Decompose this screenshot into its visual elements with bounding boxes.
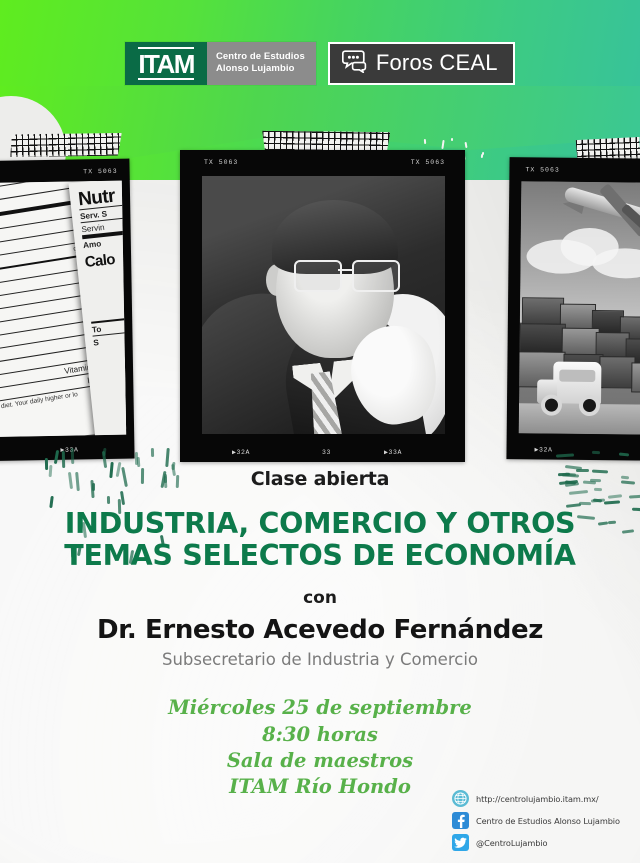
globe-icon: [452, 790, 469, 807]
portrait-artwork: [202, 176, 445, 434]
dash-mark: [61, 451, 64, 469]
kicker-text: Clase abierta: [0, 468, 640, 490]
social-row-website[interactable]: http://centrolujambio.itam.mx/: [452, 790, 640, 807]
dash-mark: [556, 453, 574, 457]
poster: ITAM Centro de Estudios Alonso Lujambio: [0, 0, 640, 863]
dash-mark: [54, 450, 59, 464]
film-code-left: TX 5063: [204, 159, 238, 166]
event-date: Miércoles 25 de septiembre: [0, 695, 640, 721]
foros-ceal-logo: Foros CEAL: [328, 42, 515, 85]
film-foot-mid: 33: [322, 449, 331, 456]
itam-logo: ITAM Centro de Estudios Alonso Lujambio: [125, 42, 316, 85]
foros-ceal-label: Foros CEAL: [376, 52, 498, 74]
container-block: [520, 323, 566, 353]
itam-logo-text: ITAM: [138, 47, 194, 80]
title-line-1: INDUSTRIA, COMERCIO Y OTROS: [65, 507, 576, 540]
dash-mark: [619, 453, 629, 457]
film-code-right: TX 5063: [411, 159, 445, 166]
website-url[interactable]: http://centrolujambio.itam.mx/: [476, 794, 599, 804]
speech-bubble-icon: [342, 49, 368, 78]
container-block: [631, 362, 640, 392]
tick-mark: [424, 139, 426, 144]
dash-mark: [165, 448, 170, 467]
truck-icon: [533, 359, 618, 416]
event-time: 8:30 horas: [0, 722, 640, 748]
itam-logo-mark: ITAM: [125, 42, 207, 85]
title-line-2: TEMAS SELECTOS DE ECONOMÍA: [64, 539, 575, 572]
itam-logo-subtitle: Centro de Estudios Alonso Lujambio: [207, 42, 316, 85]
dash-mark: [102, 448, 106, 456]
film-frame-nutrition: TX 5063 Serving Size: 56. Serving Per Pa…: [0, 159, 135, 462]
portrait-photo: [202, 176, 445, 434]
nutrition-photo: Serving Size: 56. Serving Per Packa Amou…: [0, 181, 126, 438]
twitter-icon: [452, 834, 469, 851]
con-connector: con: [0, 588, 640, 608]
logo-row: ITAM Centro de Estudios Alonso Lujambio: [0, 41, 640, 85]
dash-mark: [137, 457, 141, 467]
facebook-page[interactable]: Centro de Estudios Alonso Lujambio: [476, 816, 620, 826]
dash-mark: [71, 448, 75, 464]
eyeglass-bridge: [338, 269, 353, 271]
social-row-facebook[interactable]: Centro de Estudios Alonso Lujambio: [452, 812, 640, 829]
poster-title: INDUSTRIA, COMERCIO Y OTROS TEMAS SELECT…: [40, 508, 600, 572]
social-links: http://centrolujambio.itam.mx/ Centro de…: [452, 790, 640, 851]
film-code-left: TX 5063: [525, 166, 559, 173]
eyeglass-lens-left: [294, 260, 342, 292]
cargo-photo: [519, 181, 640, 435]
dash-mark: [592, 451, 600, 454]
poster-content: Clase abierta INDUSTRIA, COMERCIO Y OTRO…: [0, 468, 640, 800]
eyeglass-lens-right: [352, 260, 400, 292]
tick-mark: [465, 142, 468, 148]
facebook-icon: [452, 812, 469, 829]
truck-window: [559, 370, 595, 382]
nutrition-artwork: Serving Size: 56. Serving Per Packa Amou…: [0, 181, 126, 438]
speaker-name: Dr. Ernesto Acevedo Fernández: [0, 615, 640, 645]
event-room: Sala de maestros: [0, 748, 640, 774]
film-code-left: TX 5063: [83, 168, 117, 176]
film-strip-row: TX 5063 Serving Size: 56. Serving Per Pa…: [0, 150, 640, 468]
container-block: [562, 328, 600, 356]
container-block: [522, 297, 564, 325]
airplane-icon: [563, 188, 640, 235]
truck-wheel: [579, 395, 600, 416]
film-frame-portrait: TX 5063 TX 5063: [180, 150, 465, 462]
film-foot-right: ▶33A: [384, 448, 402, 456]
film-foot-left: ▶32A: [534, 445, 552, 453]
portrait-eyeglasses: [294, 260, 400, 290]
tick-mark: [441, 140, 444, 149]
itam-subtitle-line2: Alonso Lujambio: [216, 63, 305, 75]
dash-mark: [151, 448, 154, 457]
film-foot-left: ▶32A: [232, 448, 250, 456]
event-details: Miércoles 25 de septiembre 8:30 horas Sa…: [0, 695, 640, 800]
twitter-handle[interactable]: @CentroLujambio: [476, 838, 547, 848]
itam-subtitle-line1: Centro de Estudios: [216, 51, 305, 63]
tick-mark: [451, 138, 453, 141]
film-frame-cargo: TX 5063: [506, 157, 640, 461]
truck-wheel: [541, 394, 562, 415]
social-row-twitter[interactable]: @CentroLujambio: [452, 834, 640, 851]
cargo-artwork: [519, 181, 640, 435]
speaker-role: Subsecretario de Industria y Comercio: [0, 650, 640, 669]
